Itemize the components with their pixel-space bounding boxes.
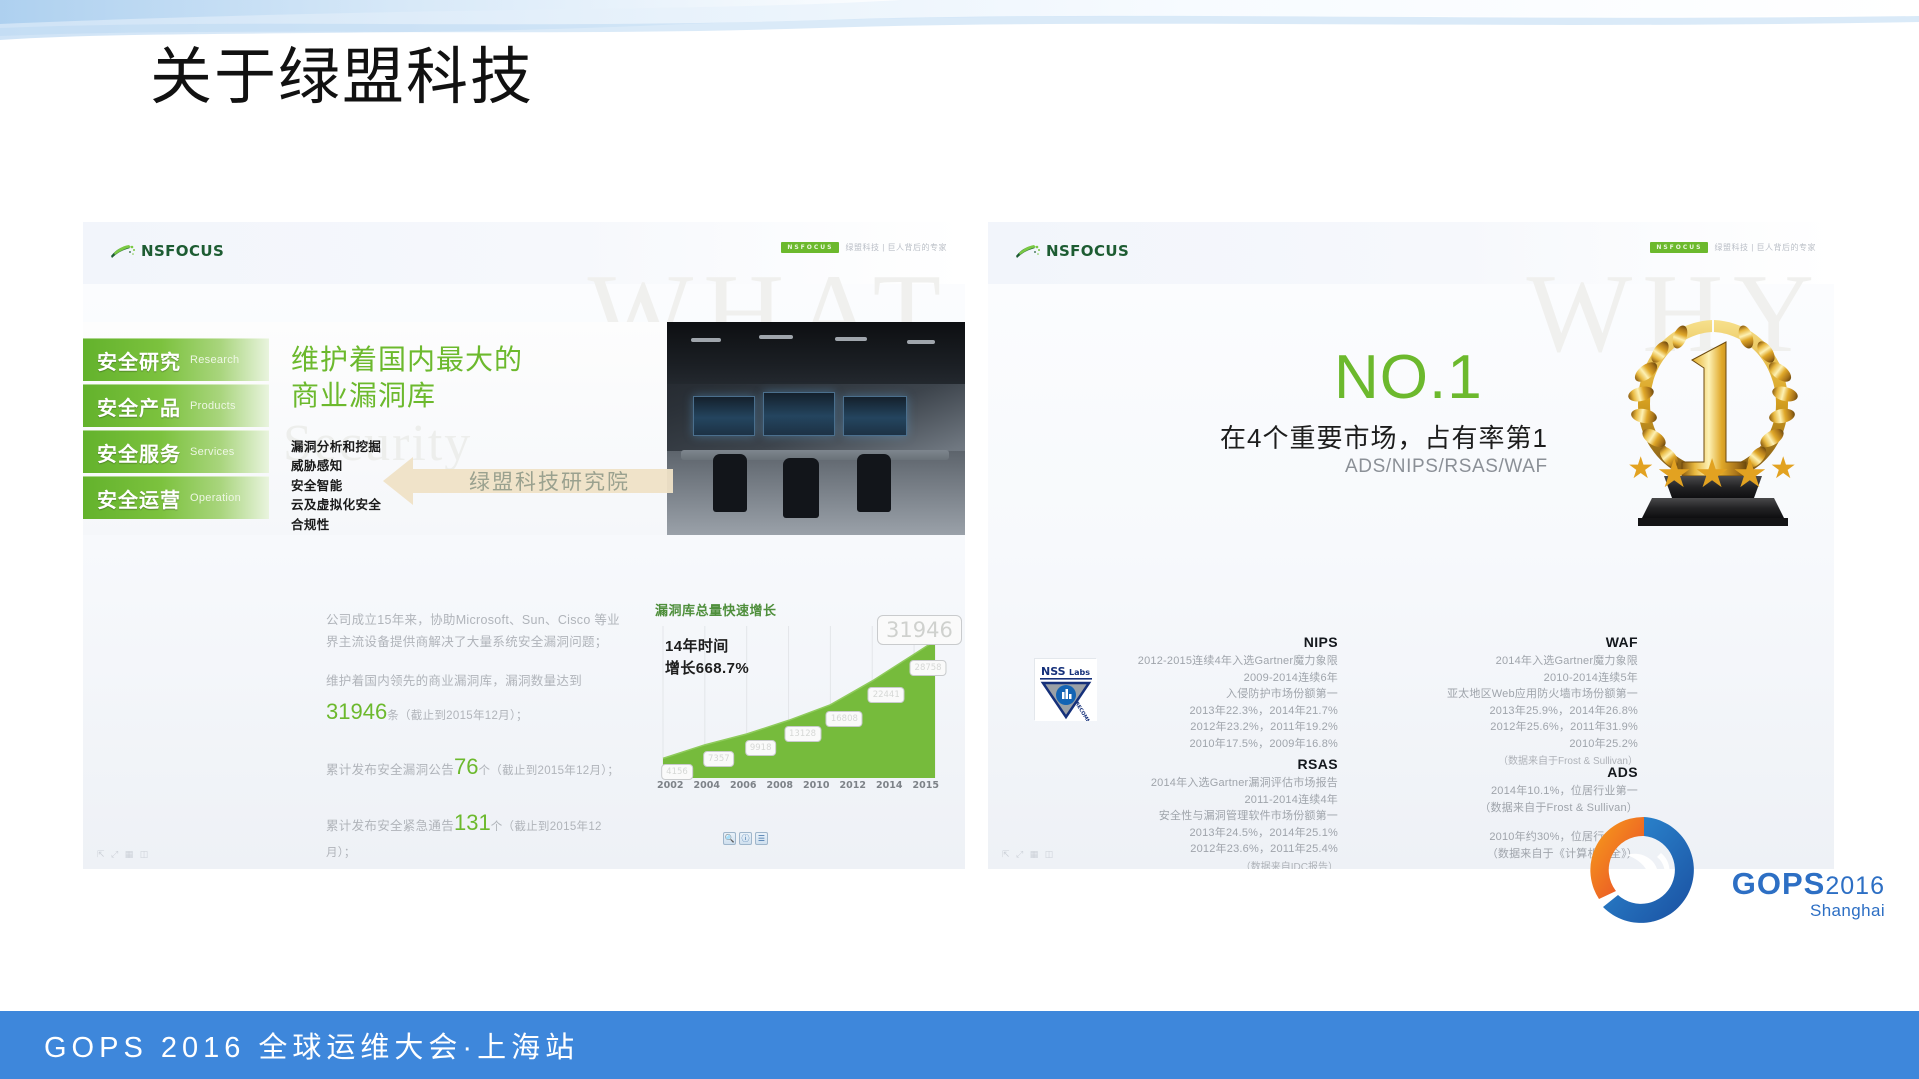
top-decoration <box>0 0 1919 46</box>
no1-subheadline: 在4个重要市场，占有率第1 <box>1220 418 1548 455</box>
market-name: ADS <box>1388 764 1638 780</box>
market-line: 2010年17.5%，2009年16.8% <box>1088 736 1338 753</box>
chart-x-axis: 20022004200620082010201220142015 <box>653 780 943 791</box>
photo-chair <box>783 458 819 518</box>
list-icon[interactable]: ☰ <box>755 832 768 845</box>
photo-ceiling <box>667 322 965 384</box>
body-paragraph-2: 维护着国内领先的商业漏洞库，漏洞数量达到 31946条（截止到2015年12月）… <box>326 671 626 731</box>
nav-label-cn: 安全服务 <box>97 438 181 467</box>
chart-data-label: 9918 <box>745 740 777 756</box>
chart-annotation-line1: 14年时间 <box>665 636 749 658</box>
chart-x-tick: 2015 <box>913 780 939 791</box>
hero-heading-line2: 商业漏洞库 <box>291 378 523 414</box>
chart-x-tick: 2002 <box>657 780 683 791</box>
svg-text:NSS: NSS <box>1041 665 1066 678</box>
urgent-notice-count-value: 131 <box>454 810 491 835</box>
body-paragraph-1: 公司成立15年来，协助Microsoft、Sun、Cisco 等业界主流设备提供… <box>326 610 626 654</box>
chart-data-label: 16808 <box>826 711 863 727</box>
nsfocus-wordmark-left: NSFOCUS <box>141 242 224 260</box>
chart-title: 漏洞库总量快速增长 <box>655 600 777 619</box>
star-icon: ★ <box>1732 454 1768 494</box>
gops-brand-line: GOPS2016 <box>1732 868 1885 899</box>
noc-photo <box>667 322 965 535</box>
advisory-count-value: 76 <box>454 754 478 779</box>
nsfocus-logo-right: NSFOCUS <box>1015 242 1129 260</box>
nsfocus-logo-left: NSFOCUS <box>110 242 224 260</box>
market-line: 2013年25.9%，2014年26.8% <box>1378 703 1638 720</box>
body-paragraph-4: 累计发布安全紧急通告131个（截止到2015年12月）； <box>326 804 626 864</box>
search-icon[interactable]: 🔍 <box>723 832 736 845</box>
p2-pre: 维护着国内领先的商业漏洞库，漏洞数量达到 <box>326 674 582 688</box>
market-line: 2013年22.3%，2014年21.7% <box>1088 703 1338 720</box>
info-icon[interactable]: ⓘ <box>739 832 752 845</box>
tagline-badge-right: NSFOCUS <box>1650 242 1708 253</box>
chart-data-label: 4156 <box>661 764 693 780</box>
chart-x-tick: 2006 <box>730 780 756 791</box>
gops-brand-year: 2016 <box>1825 872 1885 900</box>
chart-mini-toolbar[interactable]: 🔍 ⓘ ☰ <box>723 832 768 845</box>
market-line: 2010年25.2% <box>1378 736 1638 753</box>
hero-heading-line1: 维护着国内最大的 <box>291 342 523 378</box>
gops-logo-icon <box>1583 809 1705 931</box>
left-card-tagline: NSFOCUS 绿盟科技 | 巨人背后的专家 <box>781 242 947 253</box>
left-body-text: 公司成立15年来，协助Microsoft、Sun、Cisco 等业界主流设备提供… <box>326 610 626 869</box>
gops-brand-city: Shanghai <box>1732 901 1885 921</box>
photo-video-wall <box>843 396 907 436</box>
list-item: 威胁感知 <box>291 457 381 476</box>
market-line: 2009-2014连续6年 <box>1088 670 1338 687</box>
photo-light <box>691 338 721 342</box>
market-name: NIPS <box>1088 634 1338 650</box>
chart-x-tick: 2014 <box>876 780 902 791</box>
market-line: 2010-2014连续5年 <box>1378 670 1638 687</box>
nav-label-cn: 安全研究 <box>97 346 181 375</box>
nsfocus-mark-icon <box>110 244 136 259</box>
vuln-count-value: 31946 <box>326 699 387 724</box>
market-line: 2012年25.6%，2011年31.9% <box>1378 719 1638 736</box>
market-line: 2012-2015连续4年入选Gartner魔力象限 <box>1088 653 1338 670</box>
photo-video-wall <box>693 396 755 436</box>
market-name: RSAS <box>1078 756 1338 772</box>
chart-x-tick: 2004 <box>694 780 720 791</box>
market-line: 2013年24.5%，2014年25.1% <box>1078 825 1338 842</box>
research-arrow: 绿盟科技研究院 <box>383 453 673 509</box>
no1-product-list: ADS/NIPS/RSAS/WAF <box>1345 456 1548 478</box>
right-card-tagline: NSFOCUS 绿盟科技 | 巨人背后的专家 <box>1650 242 1816 253</box>
body-paragraph-3: 累计发布安全漏洞公告76个（截止到2015年12月）； <box>326 748 626 787</box>
slide-screenshot-what: NSFOCUS NSFOCUS 绿盟科技 | 巨人背后的专家 WHAT <box>83 222 965 869</box>
chart-annotation-line2: 增长668.7% <box>665 658 749 680</box>
market-name: WAF <box>1378 634 1638 650</box>
photo-light <box>907 340 935 344</box>
left-hero: 安全研究 Research 安全产品 Products 安全服务 Service… <box>83 322 965 535</box>
footer-title: GOPS 2016 全球运维大会·上海站 <box>44 1024 579 1066</box>
market-line: 2011-2014连续4年 <box>1078 792 1338 809</box>
chart-highlight-label: 31946 <box>877 615 962 645</box>
nss-labs-badge: NSS Labs RECOMMENDED <box>1034 658 1096 720</box>
chart-x-tick: 2008 <box>767 780 793 791</box>
chart-data-label: 22441 <box>868 687 905 703</box>
list-item: 云及虚拟化安全 <box>291 496 381 515</box>
market-block-waf: WAF 2014年入选Gartner魔力象限 2010-2014连续5年 亚太地… <box>1378 634 1638 767</box>
chart-annotation: 14年时间 增长668.7% <box>665 636 749 680</box>
sidebar-item-products[interactable]: 安全产品 Products <box>83 384 269 427</box>
p4-pre: 累计发布安全紧急通告 <box>326 819 454 833</box>
right-card-corner-tools[interactable]: ⇱ ⤢ ▦ ◫ <box>1002 849 1055 860</box>
star-icon: ★ <box>1770 454 1797 494</box>
star-rating: ★ ★ ★ ★ ★ <box>1602 454 1822 494</box>
chart-x-tick: 2012 <box>840 780 866 791</box>
nav-label-en: Products <box>190 400 236 412</box>
market-line: 2012年23.2%，2011年19.2% <box>1088 719 1338 736</box>
market-line: 亚太地区Web应用防火墙市场份额第一 <box>1378 686 1638 703</box>
market-line: 入侵防护市场份额第一 <box>1088 686 1338 703</box>
hero-bullet-list: 漏洞分析和挖掘 威胁感知 安全智能 云及虚拟化安全 合规性 <box>291 438 381 535</box>
sidebar-item-services[interactable]: 安全服务 Services <box>83 430 269 473</box>
p2-post: 条（截止到2015年12月）； <box>387 710 528 722</box>
footer-bar: GOPS 2016 全球运维大会·上海站 <box>0 1011 1919 1079</box>
tagline-text-left: 绿盟科技 | 巨人背后的专家 <box>845 242 947 253</box>
photo-video-wall <box>763 392 835 436</box>
nsfocus-wordmark-right: NSFOCUS <box>1046 242 1129 260</box>
market-block-nips: NIPS 2012-2015连续4年入选Gartner魔力象限 2009-201… <box>1088 634 1338 752</box>
star-icon: ★ <box>1656 454 1692 494</box>
nsfocus-mark-icon <box>1015 244 1041 259</box>
vulnerability-growth-chart: 漏洞库总量快速增长 14年时间 增长668.7% 415673579918131… <box>653 600 943 810</box>
chart-data-label: 13128 <box>784 726 821 742</box>
nav-label-en: Operation <box>190 492 241 504</box>
hero-heading: 维护着国内最大的 商业漏洞库 <box>291 342 523 414</box>
market-source: （数据来自IDC报告） <box>1078 858 1338 870</box>
slide-screenshot-why: NSFOCUS NSFOCUS 绿盟科技 | 巨人背后的专家 WHY NO.1 … <box>988 222 1834 869</box>
p3-pre: 累计发布安全漏洞公告 <box>326 763 454 777</box>
market-line: 安全性与漏洞管理软件市场份额第一 <box>1078 808 1338 825</box>
market-block-rsas: RSAS 2014年入选Gartner漏洞评估市场报告 2011-2014连续4… <box>1078 756 1338 869</box>
star-icon: ★ <box>1627 454 1654 494</box>
nav-label-en: Research <box>190 354 239 366</box>
gops-wordmark: GOPS2016 Shanghai <box>1732 868 1885 921</box>
star-icon: ★ <box>1694 454 1730 494</box>
security-pillar-nav: 安全研究 Research 安全产品 Products 安全服务 Service… <box>83 338 269 522</box>
no1-headline: NO.1 <box>1334 342 1483 413</box>
chart-x-tick: 2010 <box>803 780 829 791</box>
nav-label-cn: 安全运营 <box>97 484 181 513</box>
chart-data-label: 7357 <box>703 751 735 767</box>
tagline-text-right: 绿盟科技 | 巨人背后的专家 <box>1714 242 1816 253</box>
photo-chair <box>713 454 747 512</box>
arrow-label: 绿盟科技研究院 <box>469 466 630 496</box>
chart-data-label: 28758 <box>910 660 947 676</box>
p3-post: 个（截止到2015年12月）； <box>479 765 620 777</box>
list-item: 漏洞分析和挖掘 <box>291 438 381 457</box>
nav-label-en: Services <box>190 446 235 458</box>
market-line: 2014年入选Gartner魔力象限 <box>1378 653 1638 670</box>
market-line: 2014年10.1%，位居行业第一 <box>1388 783 1638 800</box>
market-line: 2012年23.6%，2011年25.4% <box>1078 841 1338 858</box>
sidebar-item-research[interactable]: 安全研究 Research <box>83 338 269 381</box>
photo-chair <box>857 454 891 512</box>
photo-light <box>835 337 867 341</box>
nav-label-cn: 安全产品 <box>97 392 181 421</box>
list-item: 安全智能 <box>291 477 381 496</box>
page-title: 关于绿盟科技 <box>150 42 534 113</box>
market-line: 2014年入选Gartner漏洞评估市场报告 <box>1078 775 1338 792</box>
left-card-corner-tools[interactable]: ⇱ ⤢ ▦ ◫ <box>97 849 150 860</box>
photo-light <box>759 335 793 339</box>
sidebar-item-operation[interactable]: 安全运营 Operation <box>83 476 269 519</box>
gops-brand-name: GOPS <box>1732 866 1826 901</box>
tagline-badge-left: NSFOCUS <box>781 242 839 253</box>
list-item: 合规性 <box>291 516 381 535</box>
